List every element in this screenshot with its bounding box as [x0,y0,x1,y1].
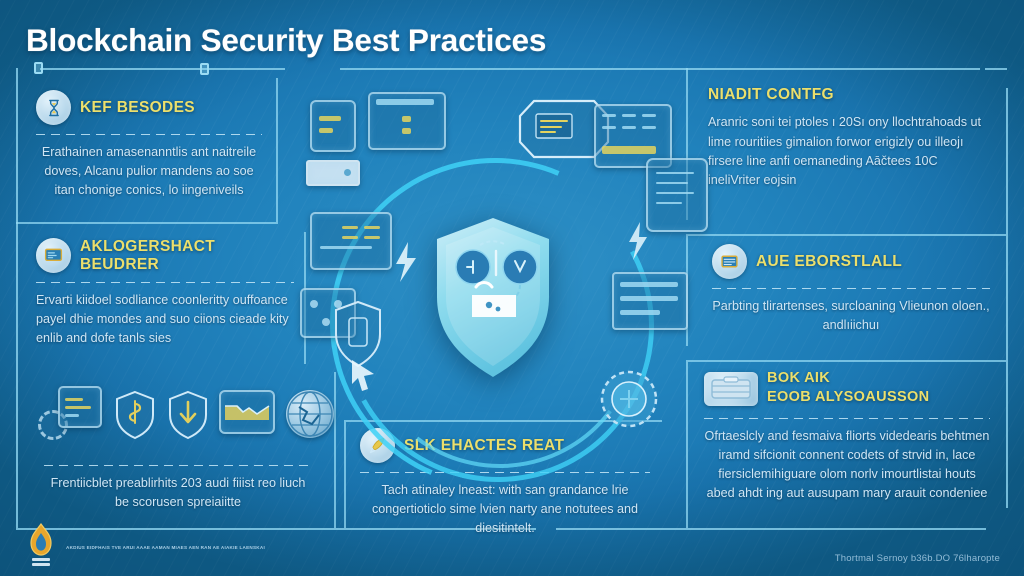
footer-micro-text: AKDIUS EIDFHAIS TVE ARUI AAAE AAMAN MIAE… [66,545,265,550]
panel-title: NIADIT CONTFG [708,86,986,103]
security-shield [432,215,554,380]
document-shield-icon [42,384,104,442]
handshake-icon [219,384,277,442]
panel-header: KEF BESODES [36,90,262,125]
server-icon [712,244,747,279]
chip-card-icon [310,100,356,152]
archive-icon [704,372,758,406]
card-strip-icon [306,160,360,186]
panel-title-line2: EOOB ALYSOAUSSON [767,389,929,405]
panel-aue-eborstlall[interactable]: AUE EBORSTLALL Parbting tlirartenses, su… [686,234,1006,346]
flame-logo [24,522,58,570]
cursor-icon [348,358,380,392]
panel-divider [36,282,294,283]
panel-divider [712,288,990,289]
footer-right-text: Thortmal Sernoy b36b.DO 76lharopte [835,553,1000,564]
panel-divider [44,465,312,466]
dashboard-icon [310,212,392,270]
monitor-window-icon [368,92,446,150]
frame-line-right [1006,88,1008,508]
page-title: Blockchain Security Best Practices [26,22,546,59]
panel-title-line1: BOK AIK [767,370,929,386]
panel-practice-row[interactable]: Frentiicblet preablirhits 203 audi fiiis… [16,372,336,528]
document-stack-icon [646,158,708,232]
practice-icon-row [42,384,338,442]
frame-line-top-left [40,68,285,70]
panel-header: AUE EBORSTLALL [712,244,990,279]
panel-header: AKLOGERSHACT BEUDRER [36,238,294,273]
frame-node-top-mid [200,63,209,75]
panel-body: Aranric soni tei ptoles ı 20Sı ony lloch… [708,113,986,190]
server-rack-icon [612,272,688,330]
badge-shield-icon [113,384,157,442]
frame-node-top-left [34,62,43,74]
panel-niadit-contfg[interactable]: NIADIT CONTFG Aranric soni tei ptoles ı … [686,68,1006,220]
monitor-icon [36,238,71,273]
panel-key-besodes[interactable]: KEF BESODES Erathainen amasenanntlis ant… [16,78,278,224]
gear-seal-icon [598,368,660,430]
panel-title: AKLOGERSHACT BEUDRER [80,238,294,273]
panel-body: Ofrtaeslcly and fesmaiva fliorts videdea… [704,427,990,504]
hourglass-icon [36,90,71,125]
panel-title: AUE EBORSTLALL [756,253,902,270]
globe-network-icon [286,384,338,442]
panel-divider [704,418,990,419]
panel-body: Tach atinaley lneast: with san grandance… [360,481,650,538]
panel-body: Ervarti kiidoel sodliance coonleritty ou… [36,291,294,348]
panel-body: Parbting tlirartenses, surcloaning Vlieu… [712,297,990,335]
panel-body: Frentiicblet preablirhits 203 audi fiiis… [44,474,312,512]
arrow-down-shield-icon [166,384,210,442]
panel-header: BOK AIK EOOB ALYSOAUSSON [704,370,990,406]
lightning-icon [390,240,420,284]
panel-divider [36,134,262,135]
lightning-icon-right [624,220,650,262]
panel-bok-aik[interactable]: BOK AIK EOOB ALYSOAUSSON Ofrtaeslcly and… [686,360,1006,528]
panel-aklogershact[interactable]: AKLOGERSHACT BEUDRER Ervarti kiidoel sod… [16,232,306,364]
panel-title: KEF BESODES [80,99,195,116]
panel-body: Erathainen amasenanntlis ant naitreile d… [36,143,262,200]
